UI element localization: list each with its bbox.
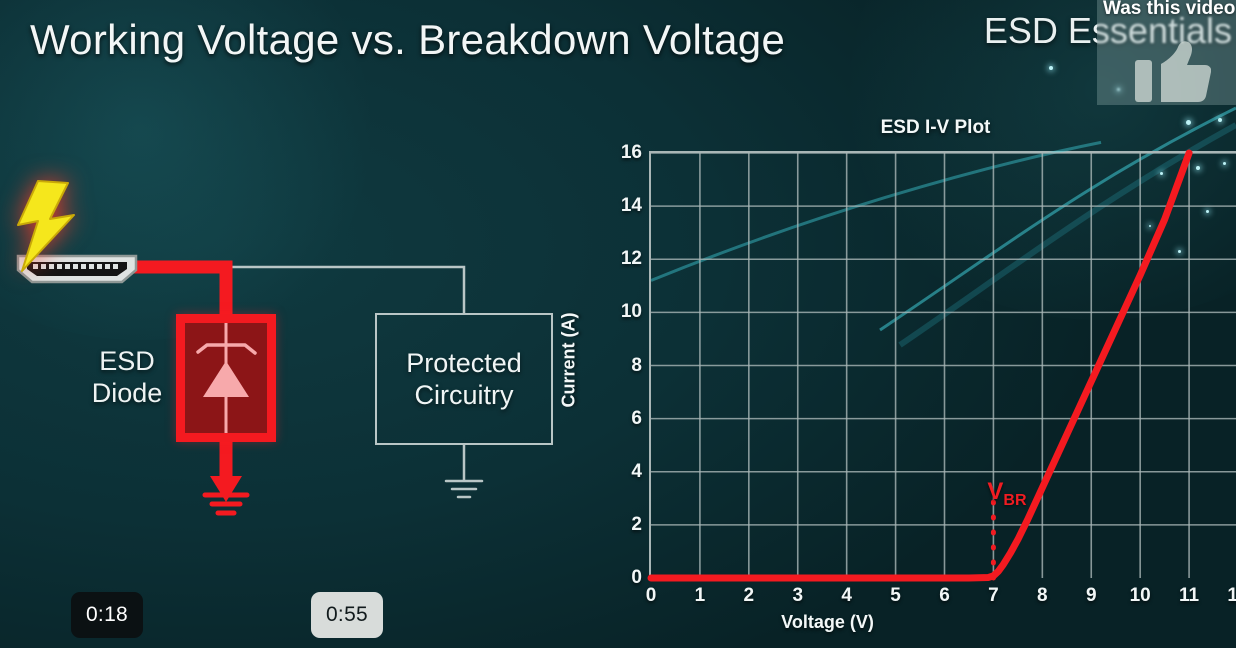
video-frame: Working Voltage vs. Breakdown Voltage ES… [0, 0, 1236, 648]
chart-canvas [651, 153, 1236, 578]
chart-y-tick: 12 [621, 248, 642, 270]
chart-y-axis-label: Current (A) [559, 313, 580, 408]
chart-y-tick: 6 [631, 408, 642, 430]
chart-x-tick: 9 [1086, 585, 1097, 607]
vbr-label-main: V [987, 478, 1003, 505]
chart-x-tick: 10 [1130, 585, 1151, 607]
breakdown-voltage-annotation: VBR [987, 478, 1026, 510]
chart-x-tick: 3 [792, 585, 803, 607]
chart-plot-area: 02468101214160123456789101112 VBR [649, 151, 1236, 576]
vbr-label-sub: BR [1003, 491, 1026, 508]
chart-x-tick: 4 [841, 585, 852, 607]
chart-y-tick: 0 [631, 567, 642, 589]
page-title: Working Voltage vs. Breakdown Voltage [30, 16, 785, 64]
chart-x-tick: 8 [1037, 585, 1048, 607]
chart-x-tick: 1 [695, 585, 706, 607]
chart-y-tick: 4 [631, 461, 642, 483]
chart-x-tick: 11 [1179, 585, 1199, 607]
circuit-diagram: ESD Diode Protected Circuitry [0, 180, 600, 540]
chart-y-tick: 10 [621, 301, 642, 323]
chart-x-tick: 5 [890, 585, 901, 607]
esd-iv-chart: ESD I-V Plot Current (A) Voltage (V) 024… [575, 105, 1236, 648]
chart-y-tick: 14 [621, 195, 642, 217]
feedback-prompt-text: Was this video [1103, 0, 1236, 20]
protected-circuitry-label-line2: Circuitry [406, 379, 522, 411]
esd-diode-label-line1: ESD [82, 346, 172, 378]
zener-diode-icon [185, 323, 267, 433]
chart-y-tick: 8 [631, 355, 642, 377]
protected-circuitry-label: Protected Circuitry [406, 347, 522, 412]
chart-y-tick: 16 [621, 142, 642, 164]
chart-x-tick: 6 [939, 585, 950, 607]
total-time-badge[interactable]: 0:55 [311, 592, 383, 638]
chart-x-tick: 7 [988, 585, 999, 607]
chart-x-tick: 2 [744, 585, 755, 607]
background-particle [1049, 66, 1053, 70]
chart-title: ESD I-V Plot [635, 117, 1236, 139]
chart-x-axis-label: Voltage (V) [534, 612, 1121, 633]
thumbs-up-icon[interactable] [1135, 40, 1211, 102]
protected-circuitry-block: Protected Circuitry [375, 313, 553, 445]
protected-circuitry-label-line1: Protected [406, 347, 522, 379]
chart-y-tick: 2 [631, 514, 642, 536]
esd-diode-label: ESD Diode [82, 346, 172, 410]
lightning-bolt-icon [10, 179, 90, 280]
chart-x-tick: 12 [1227, 585, 1236, 607]
current-time-badge[interactable]: 0:18 [71, 592, 143, 638]
esd-diode-label-line2: Diode [82, 378, 172, 410]
chart-x-tick: 0 [646, 585, 657, 607]
esd-diode-component [176, 314, 276, 442]
feedback-overlay-panel[interactable]: Was this video [1097, 0, 1236, 105]
